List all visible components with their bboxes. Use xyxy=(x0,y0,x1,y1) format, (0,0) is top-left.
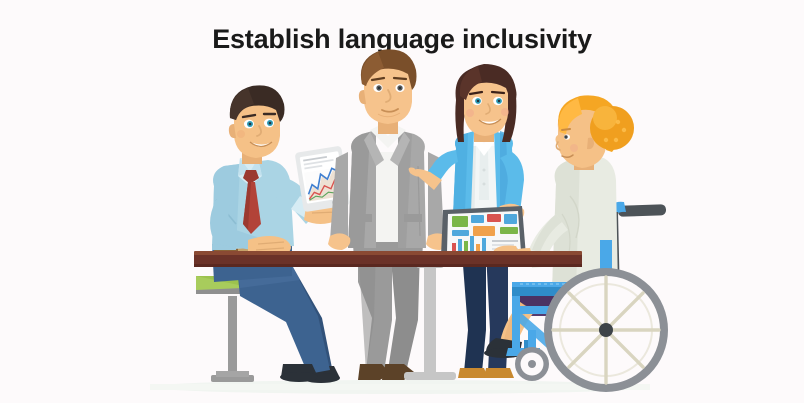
slide-canvas: Establish language inclusivity xyxy=(0,0,804,403)
meeting-table xyxy=(194,251,582,267)
team-meeting-illustration xyxy=(0,0,804,403)
